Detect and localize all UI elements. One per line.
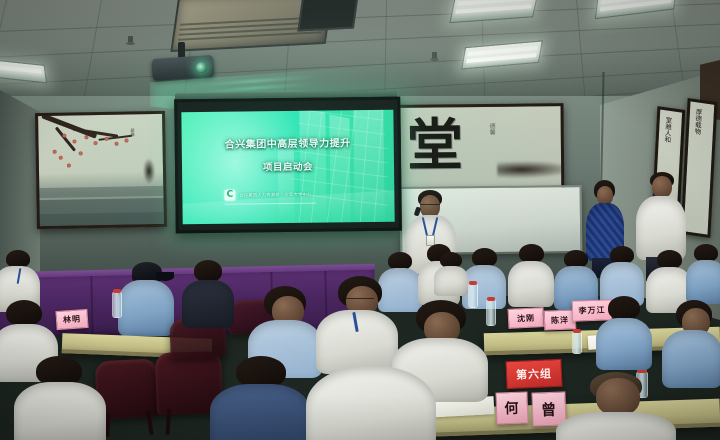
scroll-text: 厚德载物: [693, 108, 702, 135]
shirt: [556, 412, 676, 440]
hair: [6, 300, 42, 326]
calligraphy-character: 堂: [407, 117, 464, 174]
slide-organization-text: 合兴集团人力资源部 · 企业大学中心: [239, 191, 311, 198]
ceiling-access-panel: [297, 0, 358, 31]
shirt: [306, 366, 436, 440]
slide-title-line1: 合兴集团中高层领导力提升: [182, 134, 394, 152]
attendee: [316, 276, 398, 372]
presentation-slide: 合兴集团中高层领导力提升 项目启动会 C 合兴集团人力资源部 · 企业大学中心: [181, 110, 394, 225]
shirt: [686, 260, 720, 304]
water-bottle: [572, 332, 582, 354]
attendee: [210, 356, 310, 440]
painting-inscription: 題梅: [130, 128, 135, 136]
projector-mount-arm: [178, 42, 185, 58]
projection-screen: 合兴集团中高层领导力提升 项目启动会 C 合兴集团人力资源部 · 企业大学中心: [174, 97, 402, 234]
group-name-card: 第六组: [505, 359, 562, 389]
shirt: [14, 382, 106, 440]
shirt: [596, 318, 652, 370]
calligraphy-ink-stroke: [497, 160, 564, 179]
shirt: [434, 266, 468, 296]
shirt: [508, 261, 554, 307]
sprinkler-head-icon: [432, 52, 437, 61]
sprinkler-head-icon: [128, 36, 133, 45]
glasses-icon: [420, 204, 440, 208]
attendee: [306, 366, 436, 440]
glasses-icon: [346, 298, 374, 302]
hair: [608, 296, 640, 320]
shirt: [210, 384, 310, 440]
name-tent: 林明: [55, 309, 88, 330]
attendee: [596, 296, 652, 368]
head: [652, 176, 672, 198]
slide-footer: C 合兴集团人力资源部 · 企业大学中心: [224, 189, 311, 201]
bottle-cap: [487, 297, 495, 301]
water-bottle: [112, 292, 122, 318]
calligraphy-subtext: 德馨: [487, 123, 496, 135]
bottle-cap: [469, 281, 477, 285]
cap-brim: [156, 272, 174, 281]
attendee: [434, 252, 468, 294]
ink-wash-painting: 題梅: [35, 111, 167, 229]
shirt: [316, 310, 398, 374]
bottle-cap: [113, 289, 121, 293]
shirt: [182, 280, 234, 328]
scroll-text: 室雅人和: [663, 116, 672, 143]
shirt: [118, 280, 174, 336]
attendee-with-cap: [118, 262, 174, 336]
attendee: [662, 300, 720, 386]
head: [596, 378, 640, 416]
painting-figure: [143, 158, 155, 184]
conference-room-photo: 題梅 堂 德馨 室雅人和 厚德载物: [0, 0, 720, 440]
name-tent: 沈刚: [508, 307, 545, 329]
name-tent: 何: [495, 391, 528, 424]
attendee: [686, 244, 720, 302]
attendee: [182, 260, 234, 326]
attendee: [556, 372, 676, 440]
company-logo-icon: C: [224, 190, 235, 201]
bottle-cap: [573, 329, 581, 333]
hair: [194, 260, 222, 282]
attendee: [508, 244, 554, 304]
shirt: [662, 330, 720, 388]
attendee: [14, 356, 106, 440]
slide-title-line2: 项目启动会: [182, 158, 394, 175]
